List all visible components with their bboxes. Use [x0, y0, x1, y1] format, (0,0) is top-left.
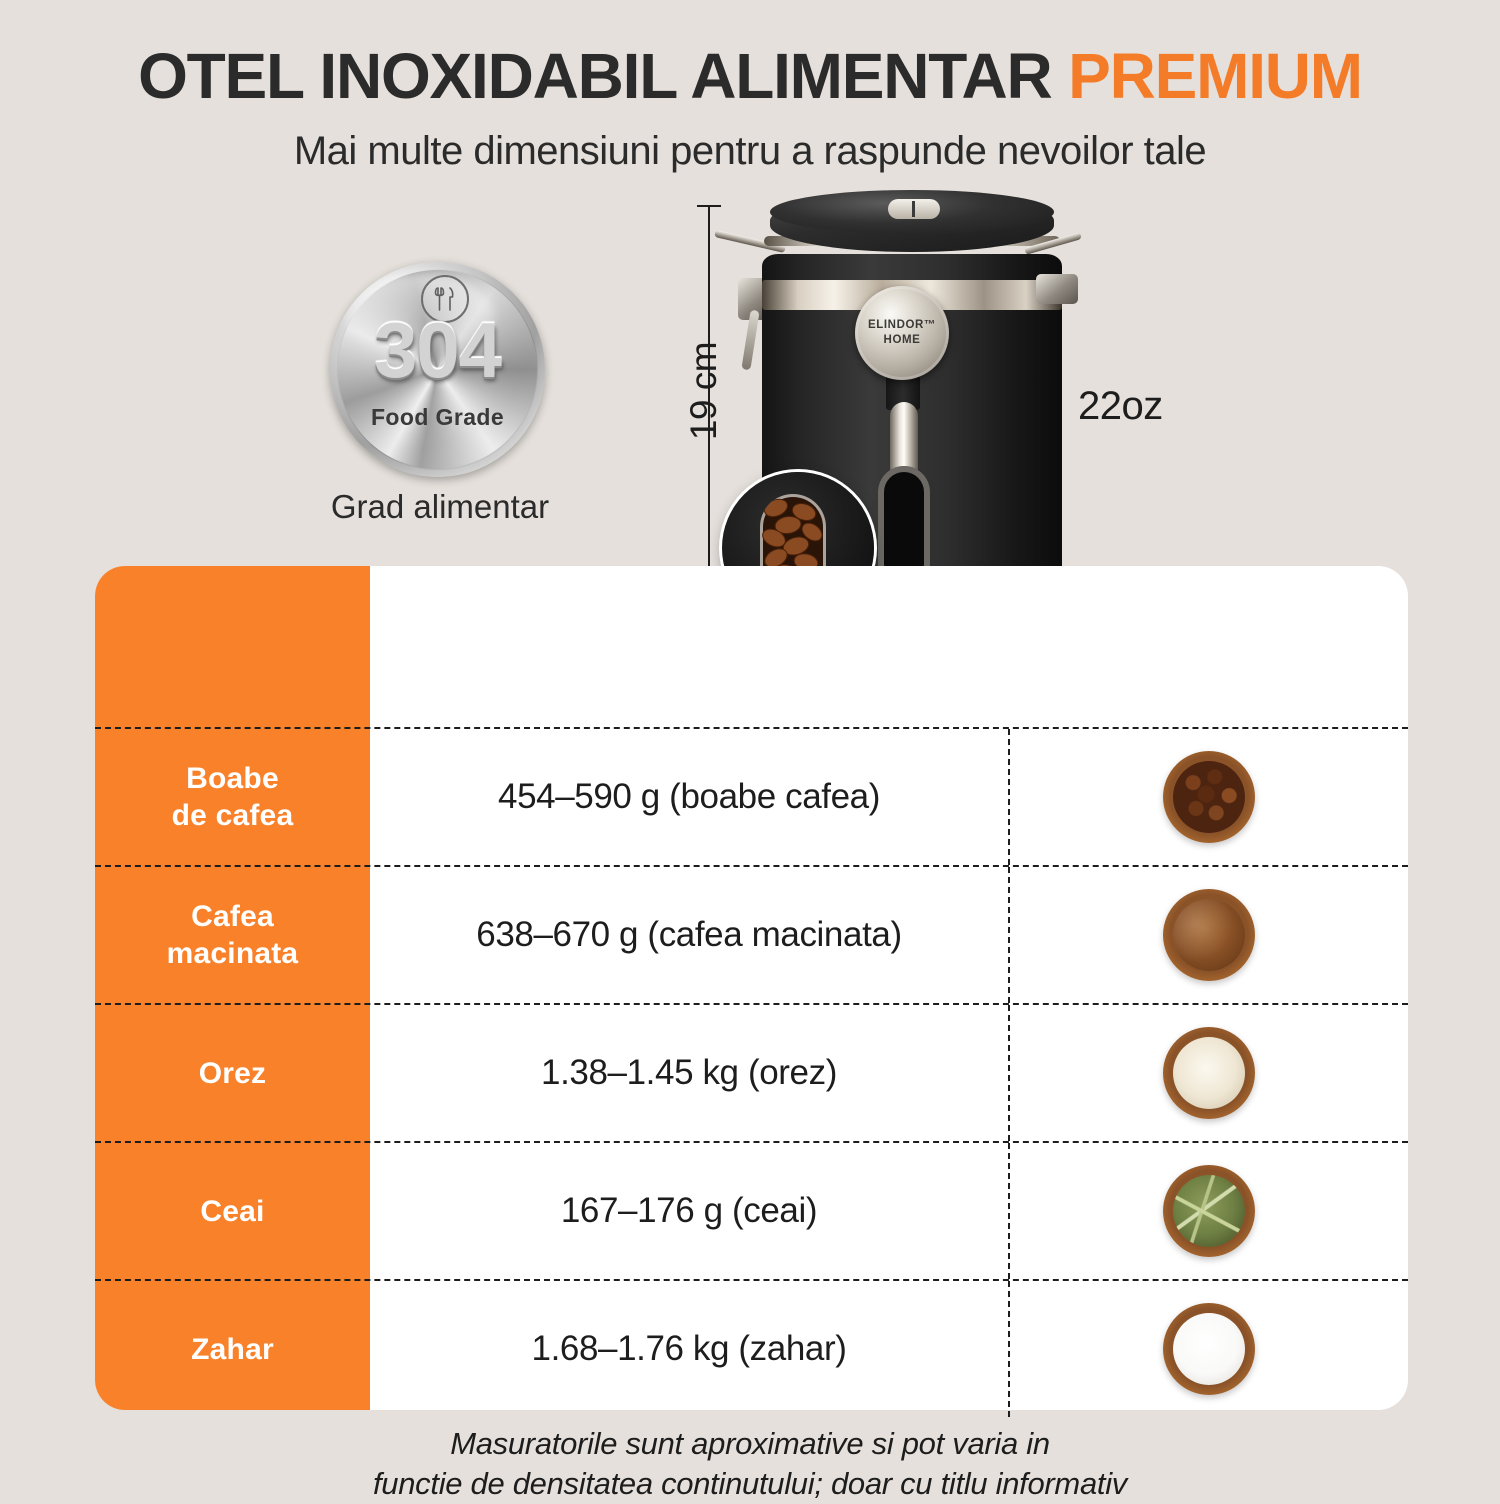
- row-food-image: [1010, 1143, 1408, 1279]
- page-subtitle: Mai multe dimensiuni pentru a raspunde n…: [0, 126, 1500, 176]
- row-capacity-value: 1.38–1.45 kg (orez): [370, 1005, 1010, 1141]
- title-accent: PREMIUM: [1068, 40, 1362, 112]
- table-row: Cafea macinata638–670 g (cafea macinata): [95, 865, 1408, 1003]
- bowl-contents: [1173, 1313, 1245, 1385]
- rice-bowl-icon: [1163, 1027, 1255, 1119]
- right-latch-icon: [1032, 226, 1110, 331]
- coffee-beans-bowl-icon: [1163, 751, 1255, 843]
- brand-sub: HOME: [884, 333, 921, 348]
- badge-grade-text: Food Grade: [330, 404, 545, 431]
- capacity-table: Boabe de cafea454–590 g (boabe cafea)Caf…: [95, 566, 1408, 1410]
- row-label: Zahar: [95, 1281, 370, 1417]
- footnote-line-2: functie de densitatea continutului; doar…: [0, 1464, 1500, 1504]
- bowl-contents: [1173, 1037, 1245, 1109]
- table-row: Boabe de cafea454–590 g (boabe cafea): [95, 727, 1408, 865]
- capacity-label: 22oz: [1078, 384, 1163, 429]
- badge-grade-number: 304: [330, 306, 545, 394]
- table-row: Zahar1.68–1.76 kg (zahar): [95, 1279, 1408, 1417]
- footnote-line-1: Masuratorile sunt aproximative si pot va…: [0, 1424, 1500, 1464]
- sugar-bowl-icon: [1163, 1303, 1255, 1395]
- table-row: Orez1.38–1.45 kg (orez): [95, 1003, 1408, 1141]
- row-food-image: [1010, 1281, 1408, 1417]
- row-label: Orez: [95, 1005, 370, 1141]
- bowl-contents: [1173, 899, 1245, 971]
- ground-coffee-bowl-icon: [1163, 889, 1255, 981]
- row-capacity-value: 1.68–1.76 kg (zahar): [370, 1281, 1010, 1417]
- brand-label: ELINDOR™ HOME: [855, 286, 949, 380]
- bowl-contents: [1173, 761, 1245, 833]
- row-label: Cafea macinata: [95, 867, 370, 1003]
- infographic-canvas: OTEL INOXIDABIL ALIMENTAR PREMIUM Mai mu…: [0, 0, 1500, 1500]
- row-food-image: [1010, 729, 1408, 865]
- tea-leaves-bowl-icon: [1163, 1165, 1255, 1257]
- food-grade-badge: 304 Food Grade Grad alimentar: [330, 262, 560, 492]
- row-capacity-value: 167–176 g (ceai): [370, 1143, 1010, 1279]
- badge-caption: Grad alimentar: [270, 488, 610, 526]
- row-capacity-value: 638–670 g (cafea macinata): [370, 867, 1010, 1003]
- row-label: Boabe de cafea: [95, 729, 370, 865]
- title-main: OTEL INOXIDABIL ALIMENTAR: [138, 40, 1051, 112]
- row-capacity-value: 454–590 g (boabe cafea): [370, 729, 1010, 865]
- row-food-image: [1010, 1005, 1408, 1141]
- date-tracker-dial-icon: [888, 199, 940, 219]
- footnote: Masuratorile sunt aproximative si pot va…: [0, 1424, 1500, 1504]
- brand-name: ELINDOR™: [868, 318, 936, 333]
- row-label: Ceai: [95, 1143, 370, 1279]
- table-row: Ceai167–176 g (ceai): [95, 1141, 1408, 1279]
- bowl-contents: [1173, 1175, 1245, 1247]
- page-title: OTEL INOXIDABIL ALIMENTAR PREMIUM: [0, 40, 1500, 112]
- table-body: Boabe de cafea454–590 g (boabe cafea)Caf…: [95, 727, 1408, 1417]
- row-food-image: [1010, 867, 1408, 1003]
